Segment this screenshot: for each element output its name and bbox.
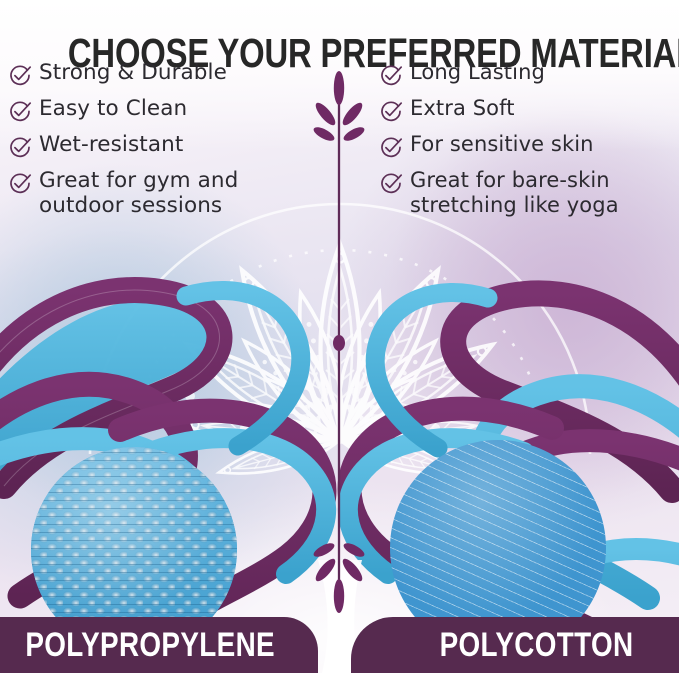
check-circle-icon <box>379 136 403 160</box>
feature-item: Easy to Clean <box>8 96 340 124</box>
feature-label: Extra Soft <box>410 96 515 121</box>
material-name-right: POLYCOTTON <box>397 627 633 663</box>
check-circle-icon <box>379 100 403 124</box>
feature-item: For sensitive skin <box>379 132 679 160</box>
feature-label: Long Lasting <box>410 60 545 85</box>
feature-label: Great for gym and outdoor sessions <box>39 168 238 218</box>
feature-column-left: Strong & Durable Easy to Clean Wet-resis… <box>0 60 340 260</box>
feature-item: Long Lasting <box>379 60 679 88</box>
check-circle-icon <box>8 100 32 124</box>
material-label-band-right: POLYCOTTON <box>351 617 679 673</box>
feature-item: Wet-resistant <box>8 132 340 160</box>
feature-item: Great for bare-skin stretching like yoga <box>379 168 679 218</box>
check-circle-icon <box>379 172 403 196</box>
feature-column-right: Long Lasting Extra Soft For sensitive sk… <box>340 60 679 260</box>
feature-label: For sensitive skin <box>410 132 594 157</box>
feature-item: Strong & Durable <box>8 60 340 88</box>
material-name-left: POLYPROPYLENE <box>25 627 293 663</box>
check-circle-icon <box>8 136 32 160</box>
feature-label: Easy to Clean <box>39 96 187 121</box>
feature-label: Wet-resistant <box>39 132 183 157</box>
material-label-band-left: POLYPROPYLENE <box>0 617 318 673</box>
vine-leaf-divider <box>339 62 340 622</box>
check-circle-icon <box>379 64 403 88</box>
product-infographic: CHOOSE YOUR PREFERRED MATERIAL: Strong &… <box>0 0 679 673</box>
check-circle-icon <box>8 64 32 88</box>
feature-item: Extra Soft <box>379 96 679 124</box>
feature-label: Strong & Durable <box>39 60 227 85</box>
feature-item: Great for gym and outdoor sessions <box>8 168 340 218</box>
feature-label: Great for bare-skin stretching like yoga <box>410 168 619 218</box>
check-circle-icon <box>8 172 32 196</box>
